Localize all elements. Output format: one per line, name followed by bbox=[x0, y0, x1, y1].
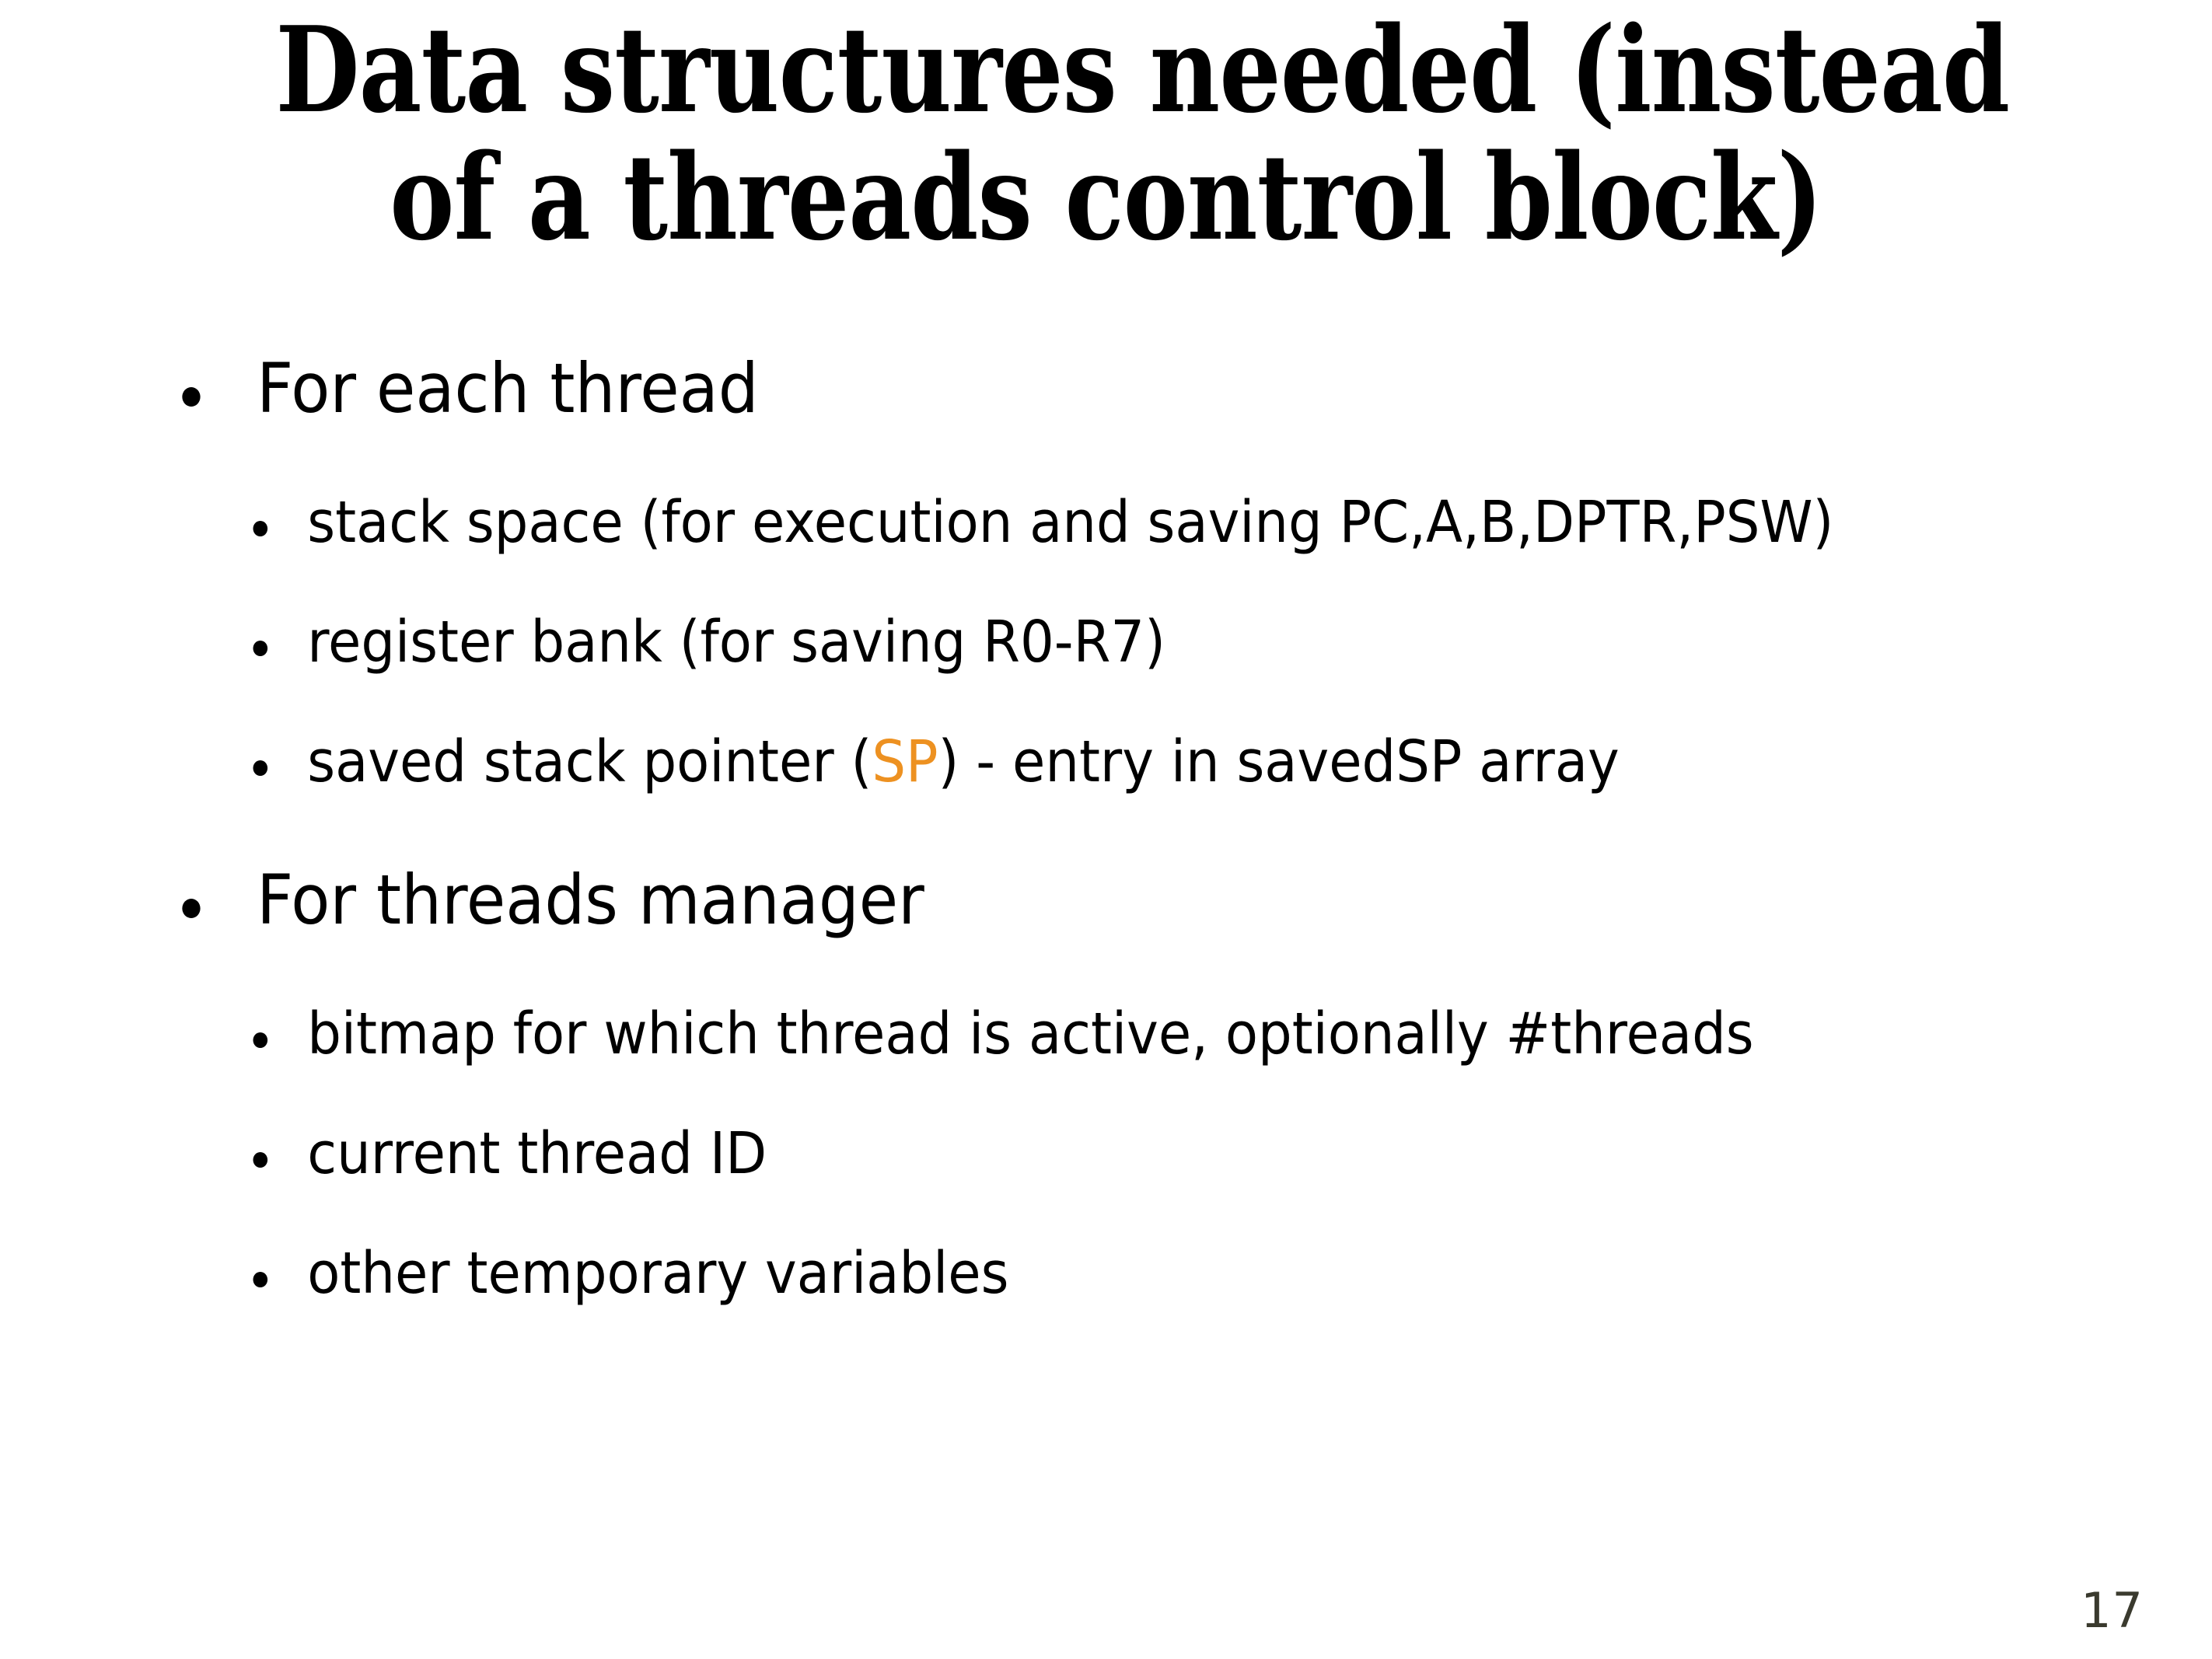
bullet-label: other temporary variables bbox=[307, 1242, 2212, 1305]
bullet-label-before: saved stack pointer ( bbox=[307, 728, 872, 795]
bullet-dot-icon bbox=[253, 1272, 268, 1287]
bullet-dot-icon bbox=[253, 1152, 268, 1168]
bullet-level2-register-bank: register bank (for saving R0-R7) bbox=[0, 611, 2212, 698]
bullet-dot-icon bbox=[182, 387, 200, 407]
page-number: 17 bbox=[2081, 1582, 2144, 1639]
bullet-level2-saved-stack-pointer: saved stack pointer (SP) - entry in save… bbox=[0, 731, 2212, 818]
slide-body: For each thread stack space (for executi… bbox=[0, 351, 2212, 1362]
slide-title: Data structures needed (instead of a thr… bbox=[275, 6, 1936, 261]
slide-canvas: Data structures needed (instead of a thr… bbox=[0, 0, 2212, 1659]
bullet-label: current thread ID bbox=[307, 1123, 2212, 1186]
bullet-label-accent-sp: SP bbox=[872, 728, 938, 795]
bullet-level1-for-threads-manager: For threads manager bbox=[0, 863, 2212, 962]
bullet-dot-icon bbox=[253, 1032, 268, 1048]
bullet-level2-bitmap-active-threads: bitmap for which thread is active, optio… bbox=[0, 1003, 2212, 1090]
bullet-dot-icon bbox=[253, 760, 268, 776]
bullet-dot-icon bbox=[253, 521, 268, 536]
bullet-label: For each thread bbox=[257, 351, 2212, 427]
slide-title-line-1: Data structures needed (instead bbox=[275, 6, 1936, 134]
bullet-dot-icon bbox=[182, 899, 200, 918]
bullet-label: stack space (for execution and saving PC… bbox=[307, 491, 2212, 554]
bullet-label-after: ) - entry in savedSP array bbox=[938, 728, 1620, 795]
bullet-label: For threads manager bbox=[257, 863, 2212, 938]
bullet-level2-other-temporary-variables: other temporary variables bbox=[0, 1242, 2212, 1329]
bullet-level2-current-thread-id: current thread ID bbox=[0, 1123, 2212, 1210]
bullet-label: saved stack pointer (SP) - entry in save… bbox=[307, 731, 2212, 794]
bullet-level2-stack-space: stack space (for execution and saving PC… bbox=[0, 491, 2212, 578]
bullet-level1-for-each-thread: For each thread bbox=[0, 351, 2212, 451]
bullet-label: bitmap for which thread is active, optio… bbox=[307, 1003, 2212, 1066]
slide-title-line-2: of a threads control block) bbox=[275, 134, 1936, 261]
bullet-dot-icon bbox=[253, 641, 268, 656]
bullet-label: register bank (for saving R0-R7) bbox=[307, 611, 2212, 674]
